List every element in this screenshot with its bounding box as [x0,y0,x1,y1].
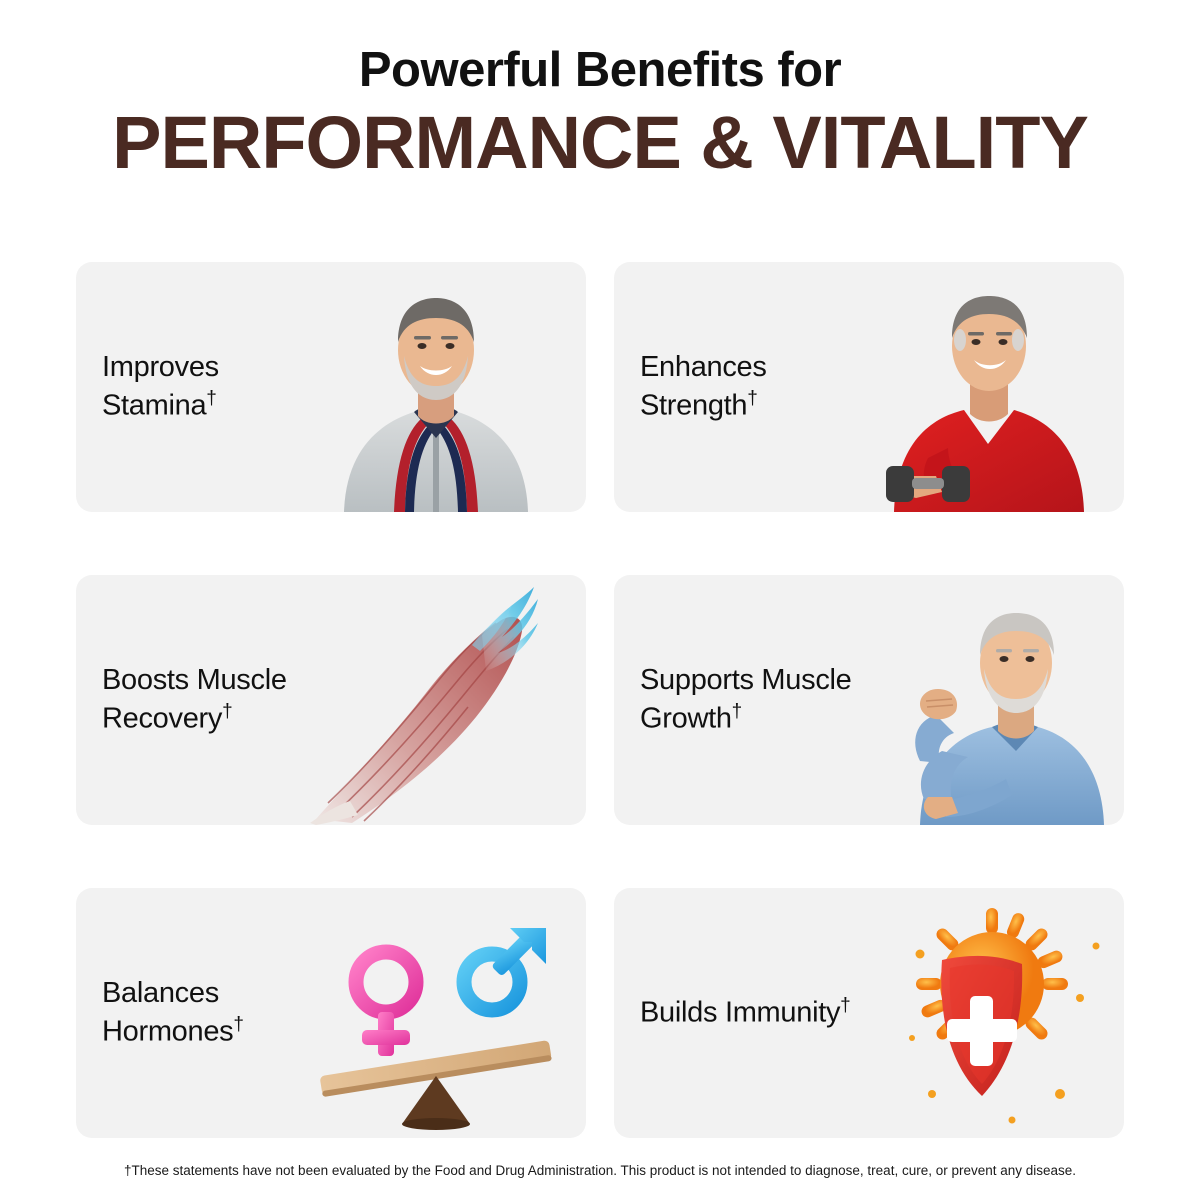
benefits-grid: Improves Stamina† [76,262,1124,1138]
benefit-label: Improves Stamina† [102,349,337,425]
heading-line-1: Powerful Benefits for [0,44,1200,98]
benefit-card-enhances-strength: Enhances Strength† [614,262,1124,512]
dagger-mark: † [233,1014,243,1035]
benefit-label-text: Builds Immunity [640,996,840,1028]
dagger-mark: † [840,995,850,1016]
page-heading: Powerful Benefits for PERFORMANCE & VITA… [0,0,1200,182]
benefit-label: Boosts Muscle Recovery† [102,662,337,738]
benefit-card-boosts-muscle-recovery: Boosts Muscle Recovery† [76,575,586,825]
immunity-shield-virus-illustration [824,888,1124,1138]
benefit-label-text: Boosts Muscle Recovery [102,664,287,734]
disclaimer-footnote: †These statements have not been evaluate… [0,1163,1200,1178]
benefit-label: Supports Muscle Growth† [640,662,875,738]
benefit-label: Enhances Strength† [640,349,875,425]
heading-line-2: PERFORMANCE & VITALITY [0,104,1200,182]
benefit-card-supports-muscle-growth: Supports Muscle Growth† [614,575,1124,825]
benefit-label-text: Enhances Strength [640,351,767,421]
benefit-label-text: Improves Stamina [102,351,219,421]
dagger-mark: † [206,388,216,409]
benefit-card-improves-stamina: Improves Stamina† [76,262,586,512]
benefit-card-builds-immunity: Builds Immunity† [614,888,1124,1138]
benefit-label-text: Supports Muscle Growth [640,664,852,734]
benefits-page: Powerful Benefits for PERFORMANCE & VITA… [0,0,1200,1200]
benefit-card-balances-hormones: Balances Hormones† [76,888,586,1138]
dagger-mark: † [222,701,232,722]
dagger-mark: † [747,388,757,409]
benefit-label-text: Balances Hormones [102,977,233,1047]
benefit-label: Balances Hormones† [102,975,337,1051]
dagger-mark: † [732,701,742,722]
benefit-label: Builds Immunity† [640,994,850,1032]
